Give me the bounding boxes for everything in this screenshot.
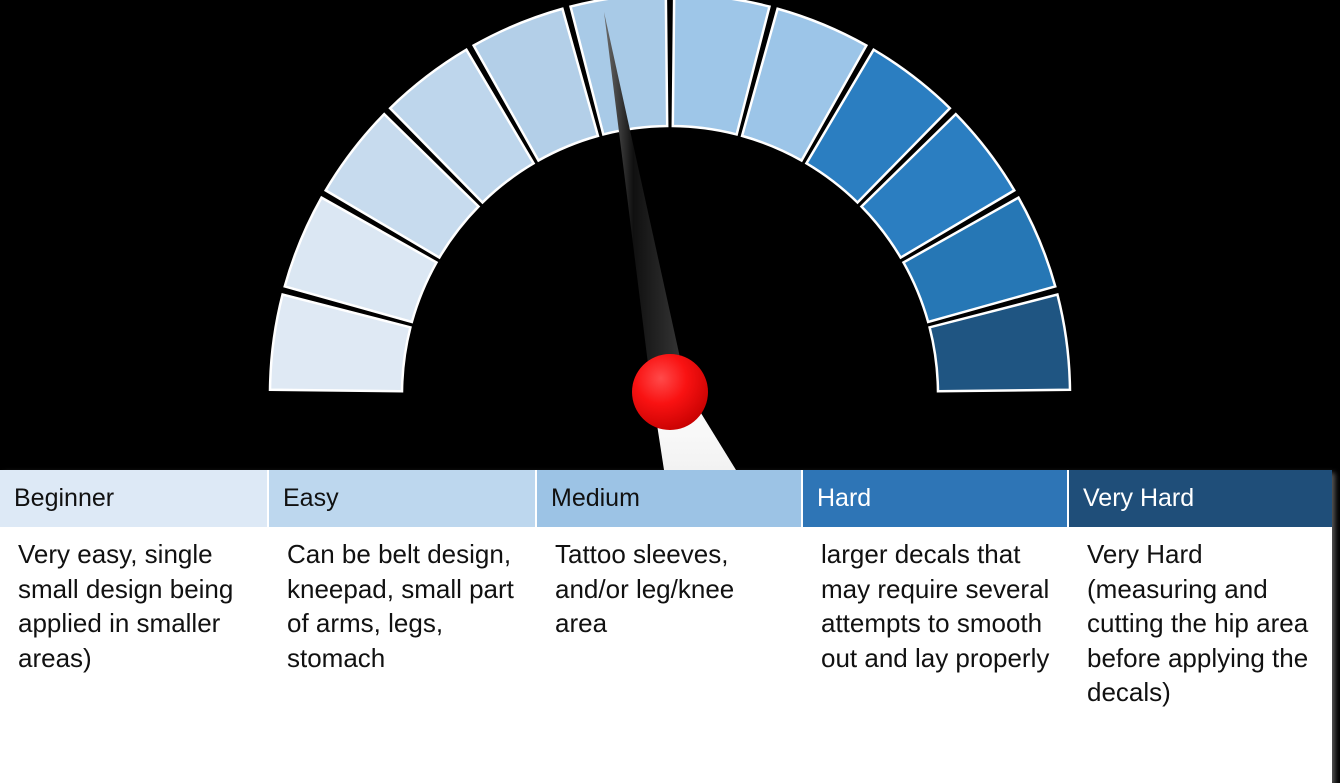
cell-easy-description: Can be belt design, kneepad, small part … xyxy=(268,527,536,783)
gauge-slide: Beginner Easy Medium Hard Very Hard Very… xyxy=(0,0,1340,776)
column-header-very-hard[interactable]: Very Hard xyxy=(1068,470,1332,527)
cell-very-hard-description: Very Hard (measuring and cutting the hip… xyxy=(1068,527,1332,783)
column-header-beginner[interactable]: Beginner xyxy=(0,470,268,527)
column-header-medium[interactable]: Medium xyxy=(536,470,802,527)
table-header-row: Beginner Easy Medium Hard Very Hard xyxy=(0,470,1332,527)
gauge-container xyxy=(0,0,1340,470)
needle-hub xyxy=(632,354,708,430)
cell-beginner-description: Very easy, single small design being app… xyxy=(0,527,268,783)
column-header-easy[interactable]: Easy xyxy=(268,470,536,527)
table-row: Very easy, single small design being app… xyxy=(0,527,1332,783)
cell-hard-description: larger decals that may require several a… xyxy=(802,527,1068,783)
column-header-hard[interactable]: Hard xyxy=(802,470,1068,527)
difficulty-levels-table: Beginner Easy Medium Hard Very Hard Very… xyxy=(0,470,1332,783)
gauge-dial xyxy=(0,0,1340,470)
cell-medium-description: Tattoo sleeves, and/or leg/knee area xyxy=(536,527,802,783)
